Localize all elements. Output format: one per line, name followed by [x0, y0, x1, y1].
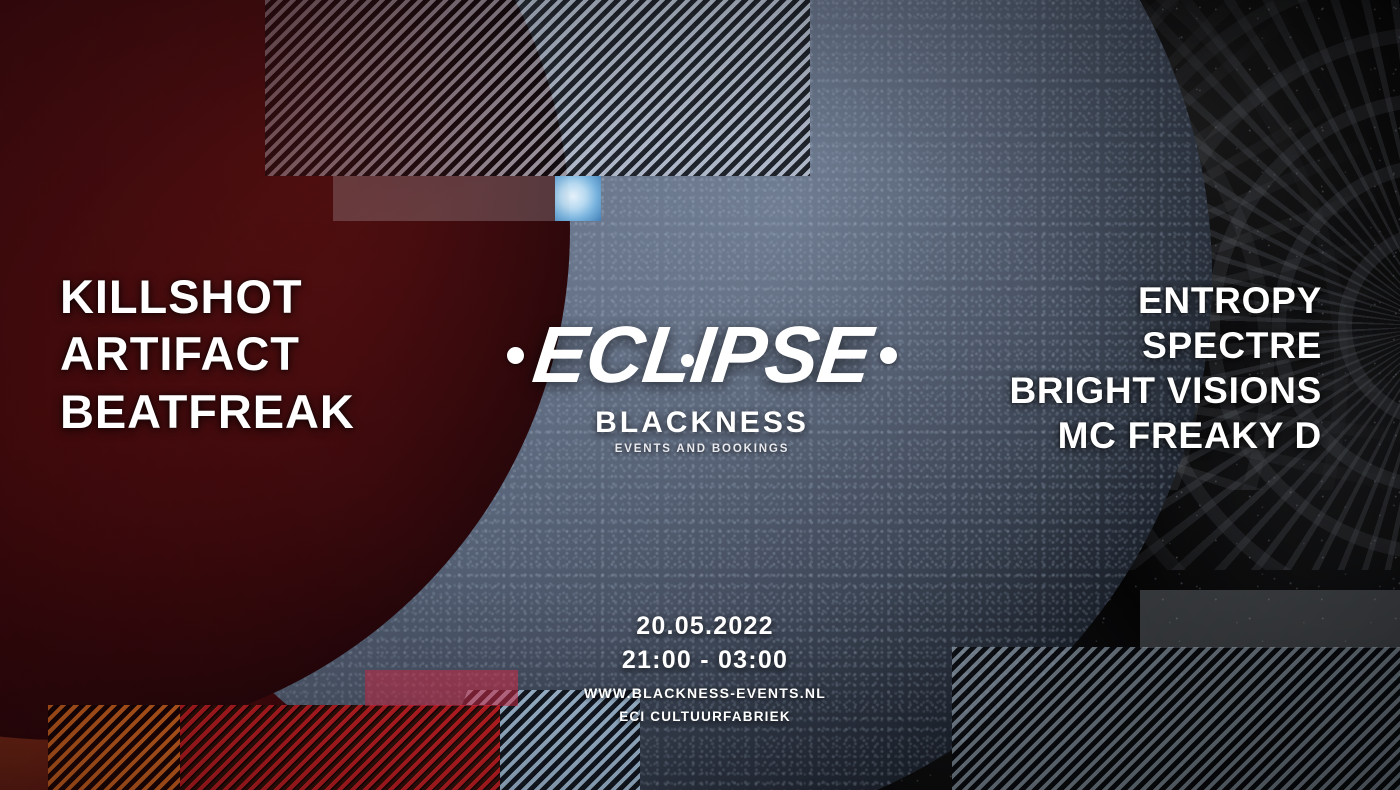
lineup-artist: ARTIFACT	[60, 325, 400, 382]
stripe-block-top-left	[265, 0, 810, 176]
event-title: ECLIPSE	[528, 309, 876, 401]
lineup-artist: ENTROPY	[992, 278, 1322, 323]
lineup-list-right: ENTROPY SPECTRE BRIGHT VISIONS MC FREAKY…	[992, 278, 1322, 459]
pink-rectangle-accent	[365, 670, 518, 706]
event-info-block: 20.05.2022 21:00 - 03:00 WWW.BLACKNESS-E…	[560, 612, 850, 724]
event-date: 20.05.2022	[560, 612, 850, 641]
lineup-artist: KILLSHOT	[60, 268, 400, 325]
organizer-name: BLACKNESS	[432, 406, 972, 440]
event-logo-lockup: ECLIPSE BLACKNESS EVENTS AND BOOKINGS	[432, 312, 972, 482]
organizer-tagline: EVENTS AND BOOKINGS	[432, 443, 972, 455]
event-poster: KILLSHOT ARTIFACT BEATFREAK ENTROPY SPEC…	[0, 0, 1400, 790]
bullet-dot-icon	[681, 354, 694, 367]
bullet-dot-icon	[507, 347, 524, 364]
event-title-row: ECLIPSE	[432, 312, 972, 398]
bullet-dot-icon	[880, 347, 897, 364]
stripe-block-bottom-right	[952, 647, 1400, 790]
lineup-artist: MC FREAKY D	[992, 413, 1322, 458]
event-venue: ECI CULTUURFABRIEK	[560, 709, 850, 724]
stripe-block-bottom-left-red	[180, 705, 500, 790]
event-website-url[interactable]: WWW.BLACKNESS-EVENTS.NL	[560, 685, 850, 701]
organizer-lockup: BLACKNESS EVENTS AND BOOKINGS	[432, 406, 972, 455]
lineup-artist: BRIGHT VISIONS	[992, 368, 1322, 413]
lineup-artist: SPECTRE	[992, 323, 1322, 368]
cyan-glint-square	[555, 176, 601, 221]
translucent-bar-bottom-right	[1140, 590, 1400, 648]
lineup-list-left: KILLSHOT ARTIFACT BEATFREAK	[60, 268, 400, 440]
lineup-artist: BEATFREAK	[60, 383, 400, 440]
event-time: 21:00 - 03:00	[560, 646, 850, 675]
